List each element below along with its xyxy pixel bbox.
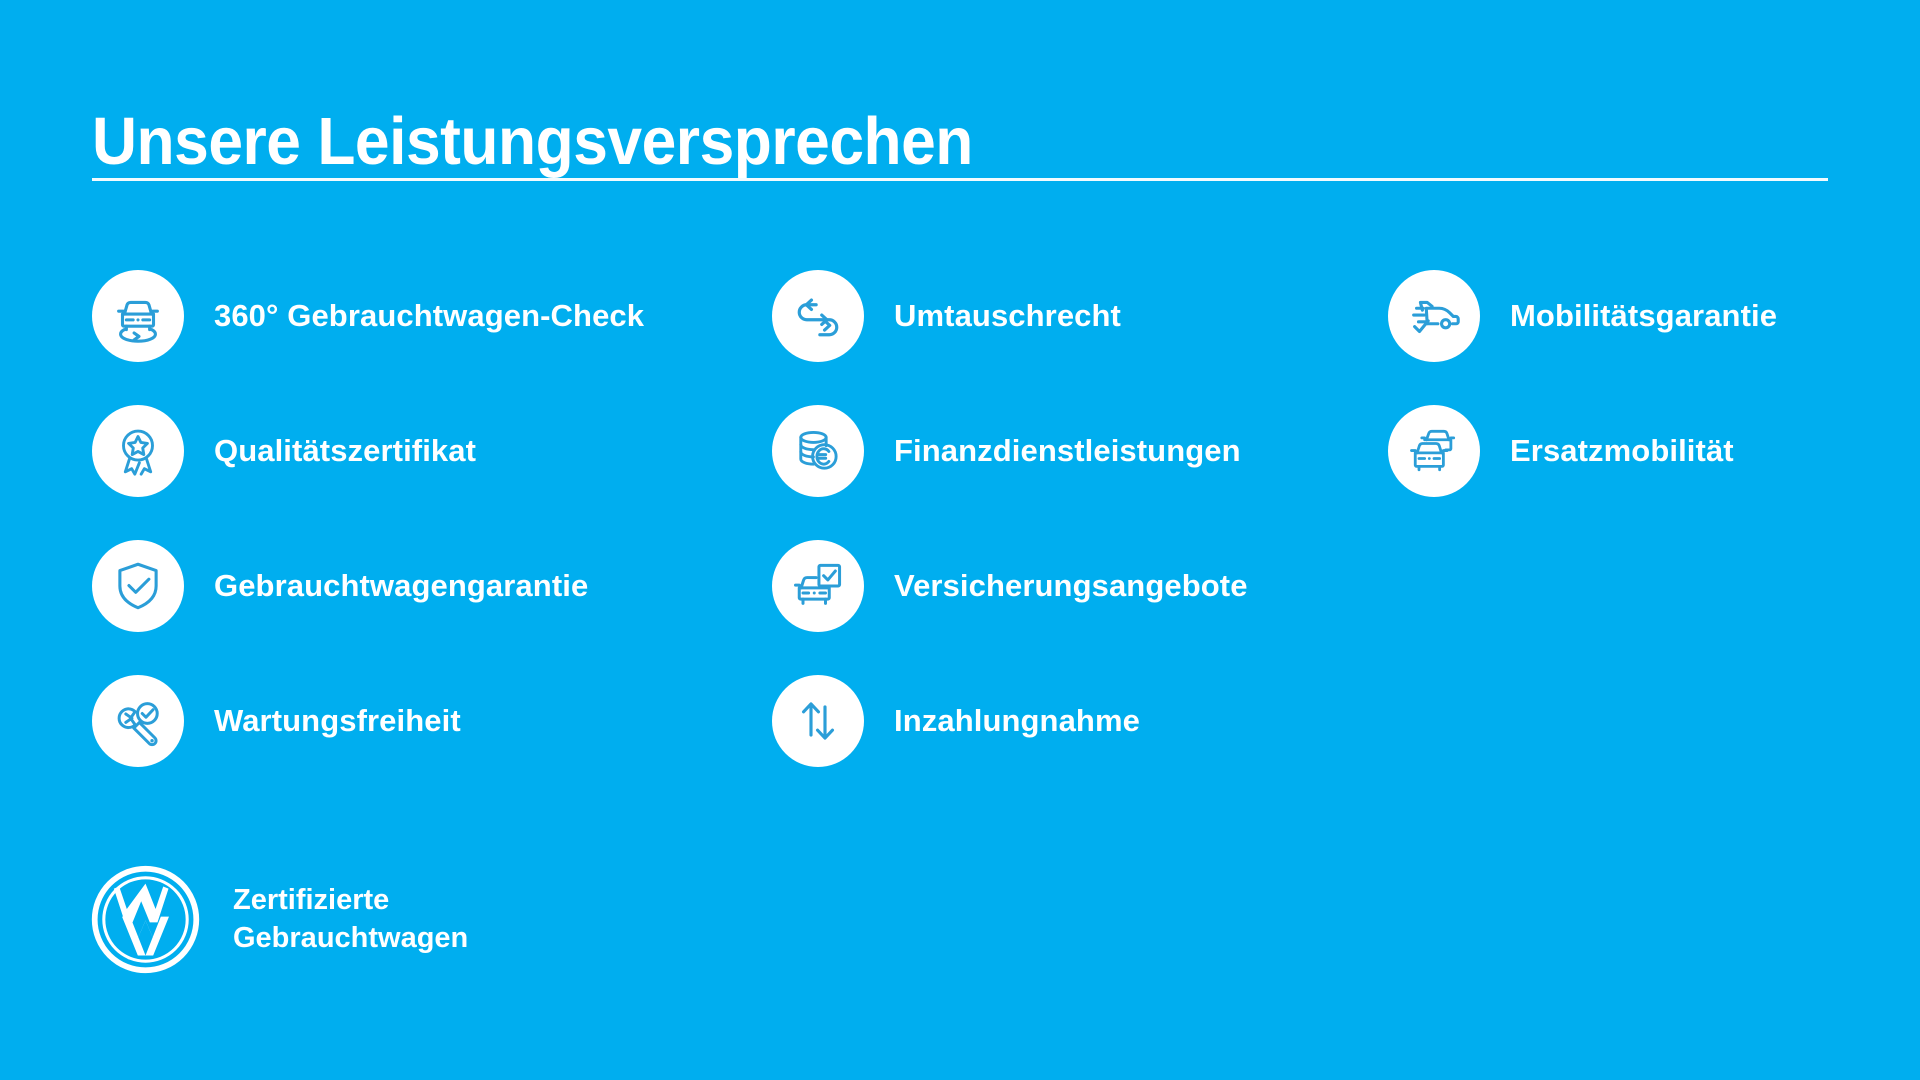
list-item-label: Wartungsfreiheit	[214, 703, 461, 739]
car-checkbox-icon	[772, 540, 864, 632]
coins-euro-icon	[772, 405, 864, 497]
list-item-label: 360° Gebrauchtwagen-Check	[214, 298, 644, 334]
up-down-arrows-icon	[772, 675, 864, 767]
list-item-label: Umtauschrecht	[894, 298, 1121, 334]
benefits-column-3: Mobilitätsgarantie Ersatzmobilität	[1388, 268, 1777, 538]
car-360-check-icon	[92, 270, 184, 362]
brand-footer-text: Zertifizierte Gebrauchtwagen	[233, 882, 468, 956]
quality-rosette-icon	[92, 405, 184, 497]
title-divider	[92, 178, 1828, 181]
list-item[interactable]: Finanzdienstleistungen	[772, 403, 1248, 498]
list-item-label: Qualitätszertifikat	[214, 433, 476, 469]
list-item-label: Inzahlungnahme	[894, 703, 1140, 739]
list-item[interactable]: Versicherungsangebote	[772, 538, 1248, 633]
slide-root: Unsere Leistungsversprechen 360° Gebrauc…	[0, 0, 1920, 1080]
list-item-label: Ersatzmobilität	[1510, 433, 1734, 469]
list-item[interactable]: Wartungsfreiheit	[92, 673, 644, 768]
benefits-column-1: 360° Gebrauchtwagen-Check Qualitätszerti…	[92, 268, 644, 808]
list-item[interactable]: Gebrauchtwagengarantie	[92, 538, 644, 633]
page-title: Unsere Leistungsversprechen	[92, 107, 973, 177]
wrench-check-icon	[92, 675, 184, 767]
list-item[interactable]: 360° Gebrauchtwagen-Check	[92, 268, 644, 363]
list-item[interactable]: Ersatzmobilität	[1388, 403, 1777, 498]
list-item-label: Mobilitätsgarantie	[1510, 298, 1777, 334]
exchange-arrows-icon	[772, 270, 864, 362]
list-item-label: Versicherungsangebote	[894, 568, 1248, 604]
two-cars-icon	[1388, 405, 1480, 497]
benefits-column-2: Umtauschrecht Finanzdienstleistungen	[772, 268, 1248, 808]
list-item[interactable]: Mobilitätsgarantie	[1388, 268, 1777, 363]
list-item[interactable]: Umtauschrecht	[772, 268, 1248, 363]
brand-footer: Zertifizierte Gebrauchtwagen	[88, 862, 468, 977]
shield-check-icon	[92, 540, 184, 632]
volkswagen-logo	[88, 862, 203, 977]
list-item-label: Finanzdienstleistungen	[894, 433, 1241, 469]
list-item[interactable]: Qualitätszertifikat	[92, 403, 644, 498]
list-item[interactable]: Inzahlungnahme	[772, 673, 1248, 768]
moving-car-check-icon	[1388, 270, 1480, 362]
list-item-label: Gebrauchtwagengarantie	[214, 568, 588, 604]
